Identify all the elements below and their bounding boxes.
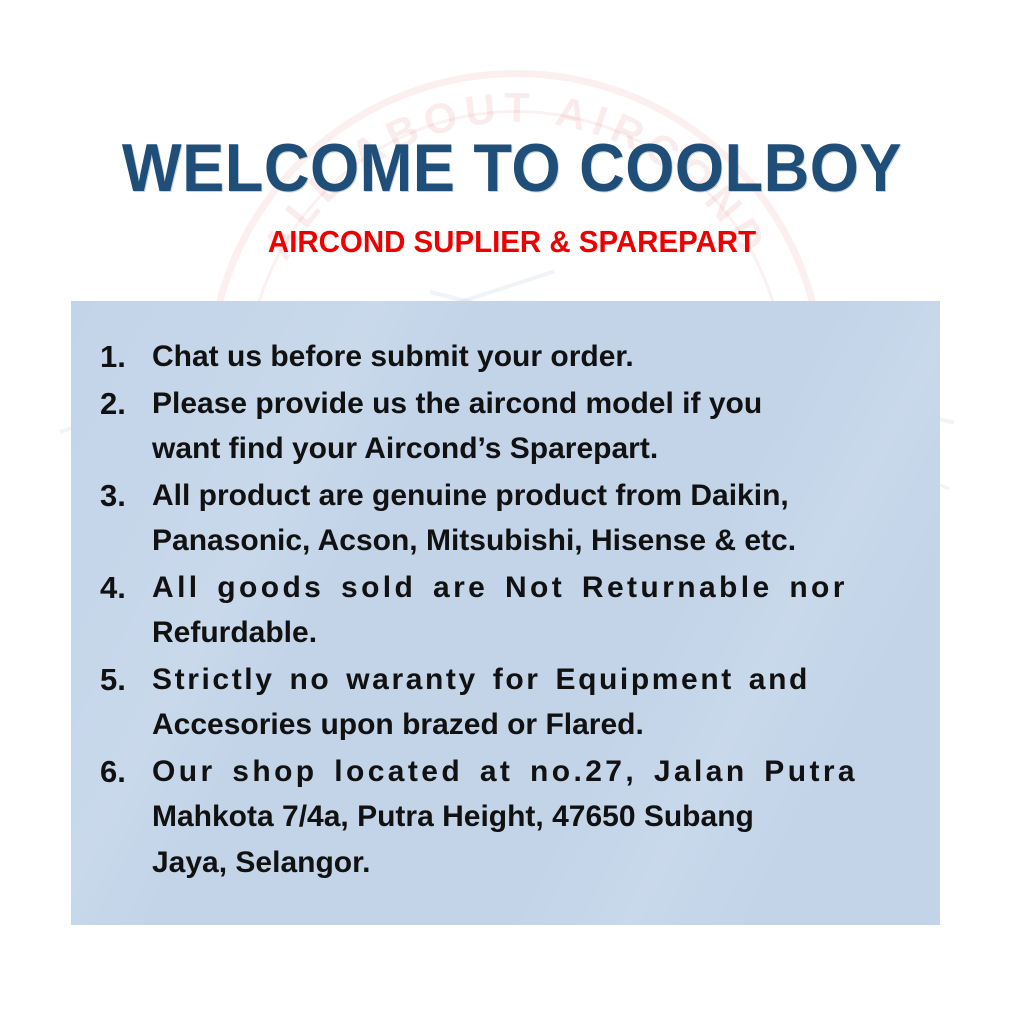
list-item-number: 5.: [100, 657, 152, 703]
list-item-text: All goods sold are Not Returnable norRef…: [152, 565, 918, 656]
list-item-line: Our shop located at no.27, Jalan Putra: [152, 749, 918, 795]
list-item-number: 1.: [100, 334, 152, 380]
list-item-line: Chat us before submit your order.: [152, 334, 918, 380]
list-item-text: Our shop located at no.27, Jalan PutraMa…: [152, 749, 918, 886]
list-item-line: Panasonic, Acson, Mitsubishi, Hisense & …: [152, 518, 918, 564]
terms-panel: 1.Chat us before submit your order.2.Ple…: [71, 301, 940, 925]
list-item-line: Please provide us the aircond model if y…: [152, 381, 918, 427]
list-item-line: Accesories upon brazed or Flared.: [152, 702, 918, 748]
list-item: 3.All product are genuine product from D…: [100, 473, 918, 564]
page-subtitle: AIRCOND SUPLIER & SPAREPART: [26, 225, 999, 259]
list-item-number: 4.: [100, 565, 152, 611]
list-item-line: All goods sold are Not Returnable nor: [152, 565, 918, 611]
list-item-text: Strictly no waranty for Equipment andAcc…: [152, 657, 918, 748]
list-item-number: 3.: [100, 473, 152, 519]
list-item-text: Please provide us the aircond model if y…: [152, 381, 918, 472]
list-item: 6.Our shop located at no.27, Jalan Putra…: [100, 749, 918, 886]
poster-canvas: ALL ABOUT AIRCOND ALL ABOUT AIRCOND WELC…: [0, 0, 1024, 1024]
terms-list: 1.Chat us before submit your order.2.Ple…: [71, 301, 940, 885]
list-item-line: All product are genuine product from Dai…: [152, 473, 918, 519]
list-item-line: want find your Aircond’s Sparepart.: [152, 426, 918, 472]
list-item-line: Jaya, Selangor.: [152, 840, 918, 886]
list-item-text: All product are genuine product from Dai…: [152, 473, 918, 564]
list-item: 4.All goods sold are Not Returnable norR…: [100, 565, 918, 656]
list-item-line: Refurdable.: [152, 610, 918, 656]
list-item: 2.Please provide us the aircond model if…: [100, 381, 918, 472]
list-item-line: Mahkota 7/4a, Putra Height, 47650 Subang: [152, 794, 918, 840]
list-item-number: 2.: [100, 381, 152, 427]
list-item: 1.Chat us before submit your order.: [100, 334, 918, 380]
list-item-text: Chat us before submit your order.: [152, 334, 918, 380]
page-title: WELCOME TO COOLBOY: [36, 133, 988, 203]
list-item: 5.Strictly no waranty for Equipment andA…: [100, 657, 918, 748]
list-item-line: Strictly no waranty for Equipment and: [152, 657, 918, 703]
list-item-number: 6.: [100, 749, 152, 795]
